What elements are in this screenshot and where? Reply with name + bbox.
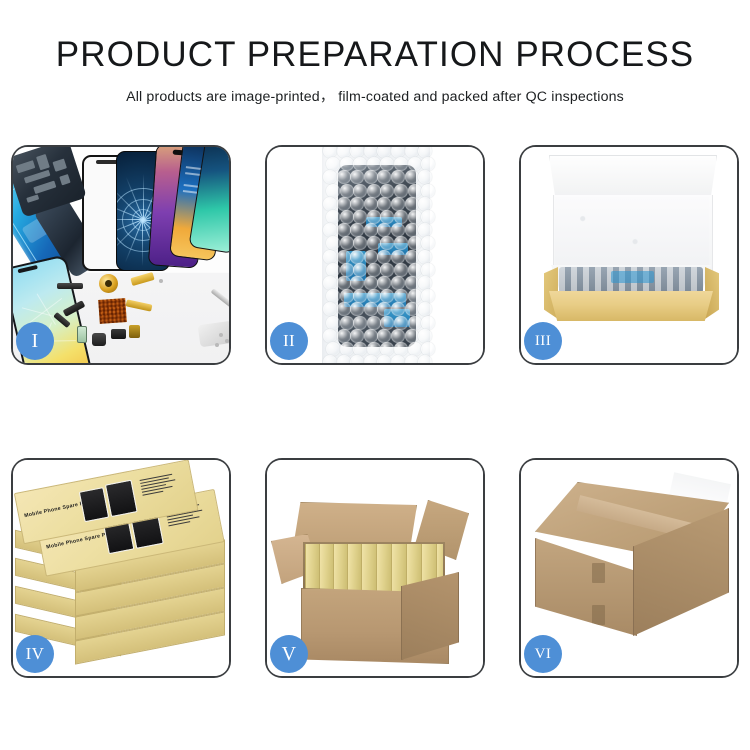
bubble: [394, 210, 408, 224]
bubble: [367, 236, 381, 250]
bubble: [408, 289, 422, 303]
bubble: [364, 170, 378, 184]
bubble: [394, 184, 408, 198]
bubble: [405, 250, 419, 264]
bubble: [418, 276, 432, 290]
bubble: [353, 236, 367, 250]
bubble: [394, 263, 408, 277]
bubble: [391, 329, 405, 343]
bubble: [421, 342, 435, 356]
bubble: [350, 302, 364, 316]
bubble: [326, 316, 340, 330]
bubble: [326, 184, 340, 198]
bubble: [337, 223, 351, 237]
bubble: [405, 197, 419, 211]
bubble-wrapped-part-in-box: [559, 267, 703, 293]
carton-seam-bottom: [592, 605, 605, 625]
bubble: [421, 263, 435, 277]
bubble: [337, 355, 351, 363]
bubble: [323, 197, 337, 211]
bubble: [367, 289, 381, 303]
bubble: [405, 223, 419, 237]
bubble: [391, 355, 405, 363]
bubble: [405, 355, 419, 363]
step-badge-2: II: [270, 322, 308, 360]
bubble: [337, 276, 351, 290]
bubble: [353, 316, 367, 330]
bubble: [340, 236, 354, 250]
bubble: [377, 355, 391, 363]
process-step-6: VI: [519, 458, 739, 678]
bubble: [408, 342, 422, 356]
bubble: [353, 289, 367, 303]
screw-4: [159, 279, 163, 283]
bubble: [405, 276, 419, 290]
bubble: [353, 342, 367, 356]
bubble: [326, 263, 340, 277]
bubble: [364, 197, 378, 211]
bubble: [350, 223, 364, 237]
bubble: [408, 157, 422, 171]
bubble: [340, 342, 354, 356]
tweezers-tool: [211, 288, 229, 310]
flex-cable-1: [130, 272, 154, 286]
bubble: [421, 316, 435, 330]
bubble: [394, 316, 408, 330]
bubble: [323, 302, 337, 316]
bubble: [326, 157, 340, 171]
bubble: [367, 263, 381, 277]
bubble: [380, 289, 394, 303]
bubble: [364, 250, 378, 264]
bubble: [350, 197, 364, 211]
bubble: [418, 302, 432, 316]
bubble: [418, 170, 432, 184]
bubble: [353, 184, 367, 198]
bubble: [380, 236, 394, 250]
bubble: [323, 170, 337, 184]
bubble: [408, 316, 422, 330]
bubble: [353, 210, 367, 224]
bubble: [340, 210, 354, 224]
bubble: [421, 289, 435, 303]
bubble: [421, 157, 435, 171]
bubble: [418, 355, 432, 363]
bubble: [405, 329, 419, 343]
repair-tool: [198, 321, 229, 348]
bubble: [377, 170, 391, 184]
bubble: [323, 355, 337, 363]
carton-side-panel: [401, 572, 459, 660]
bubble: [408, 184, 422, 198]
bubble: [391, 302, 405, 316]
bubble: [323, 250, 337, 264]
bubble: [405, 302, 419, 316]
bubble: [326, 210, 340, 224]
bubble: [418, 223, 432, 237]
bubble: [377, 223, 391, 237]
bubble: [326, 236, 340, 250]
bubble: [377, 329, 391, 343]
bubble: [421, 210, 435, 224]
bubble: [380, 210, 394, 224]
bubble: [350, 170, 364, 184]
chip-component: [111, 329, 126, 339]
motherboard: [13, 147, 87, 218]
bubble: [367, 157, 381, 171]
bubble: [418, 329, 432, 343]
bubble: [377, 197, 391, 211]
bubble: [394, 236, 408, 250]
bubble: [377, 250, 391, 264]
bubble-wrap-envelope: [322, 147, 430, 363]
bubble: [377, 302, 391, 316]
bubble: [367, 316, 381, 330]
bubble: [367, 184, 381, 198]
carton-seam-top: [592, 563, 605, 583]
bubble: [340, 184, 354, 198]
step-badge-1: I: [16, 322, 54, 360]
bubble: [337, 302, 351, 316]
bubble: [323, 276, 337, 290]
header: PRODUCT PREPARATION PROCESS All products…: [0, 0, 750, 106]
bubble: [391, 170, 405, 184]
bubble: [408, 236, 422, 250]
bubble: [380, 157, 394, 171]
bubble: [326, 289, 340, 303]
bubble: [391, 276, 405, 290]
bubble: [353, 263, 367, 277]
bubble: [418, 250, 432, 264]
bubble: [337, 197, 351, 211]
process-step-5: V: [265, 458, 485, 678]
bubble: [380, 263, 394, 277]
process-step-4: Mobile Phone Spare Parts Mobile Phone Sp…: [11, 458, 231, 678]
bubble: [337, 250, 351, 264]
bubble: [421, 184, 435, 198]
bubble: [391, 197, 405, 211]
camera-module: [129, 325, 140, 338]
bubble: [367, 210, 381, 224]
bubble: [391, 223, 405, 237]
flex-cable-2: [126, 299, 153, 311]
bubble: [408, 210, 422, 224]
bubble: [394, 342, 408, 356]
vibration-coil: [99, 274, 118, 293]
bubble: [364, 329, 378, 343]
screw-1: [219, 333, 223, 337]
bubble: [421, 236, 435, 250]
screw-3: [215, 343, 219, 347]
process-step-2: II: [265, 145, 485, 365]
page-title: PRODUCT PREPARATION PROCESS: [0, 0, 750, 72]
bubble: [350, 329, 364, 343]
copper-heat-grid: [98, 298, 127, 324]
speaker-module: [92, 333, 106, 346]
bubble: [391, 250, 405, 264]
bubble: [394, 289, 408, 303]
battery-connector: [77, 326, 87, 343]
bubble: [364, 276, 378, 290]
bubble: [340, 289, 354, 303]
process-step-1: I: [11, 145, 231, 365]
bubble: [340, 263, 354, 277]
bubble: [408, 263, 422, 277]
bubble: [337, 170, 351, 184]
bubble: [377, 276, 391, 290]
bubble: [380, 184, 394, 198]
process-step-grid: I II: [11, 145, 739, 678]
bubble: [350, 355, 364, 363]
bubble: [394, 157, 408, 171]
product-preparation-infographic: PRODUCT PREPARATION PROCESS All products…: [0, 0, 750, 750]
step-badge-4: IV: [16, 635, 54, 673]
foam-lining: [555, 197, 709, 269]
bubble-pattern: [322, 147, 430, 363]
bubble: [380, 316, 394, 330]
bubble: [326, 342, 340, 356]
bubble: [364, 355, 378, 363]
speaker-bar: [57, 283, 83, 289]
bubble: [364, 302, 378, 316]
bubble: [364, 223, 378, 237]
process-step-3: III: [519, 145, 739, 365]
step-badge-3: III: [524, 322, 562, 360]
bubble: [350, 276, 364, 290]
bubble: [337, 329, 351, 343]
bubble: [350, 250, 364, 264]
bubble: [405, 170, 419, 184]
bubble: [323, 223, 337, 237]
bubble: [340, 316, 354, 330]
step-badge-5: V: [270, 635, 308, 673]
bubble: [380, 342, 394, 356]
screw-2: [225, 339, 229, 343]
bubble: [418, 197, 432, 211]
bubble: [340, 157, 354, 171]
box-front-panel: [549, 291, 713, 321]
step-badge-6: VI: [524, 635, 562, 673]
carton-left-panel: [535, 538, 637, 636]
bubble: [367, 342, 381, 356]
bubble: [353, 157, 367, 171]
page-subtitle: All products are image-printed， film-coa…: [0, 72, 750, 106]
bubble: [323, 329, 337, 343]
